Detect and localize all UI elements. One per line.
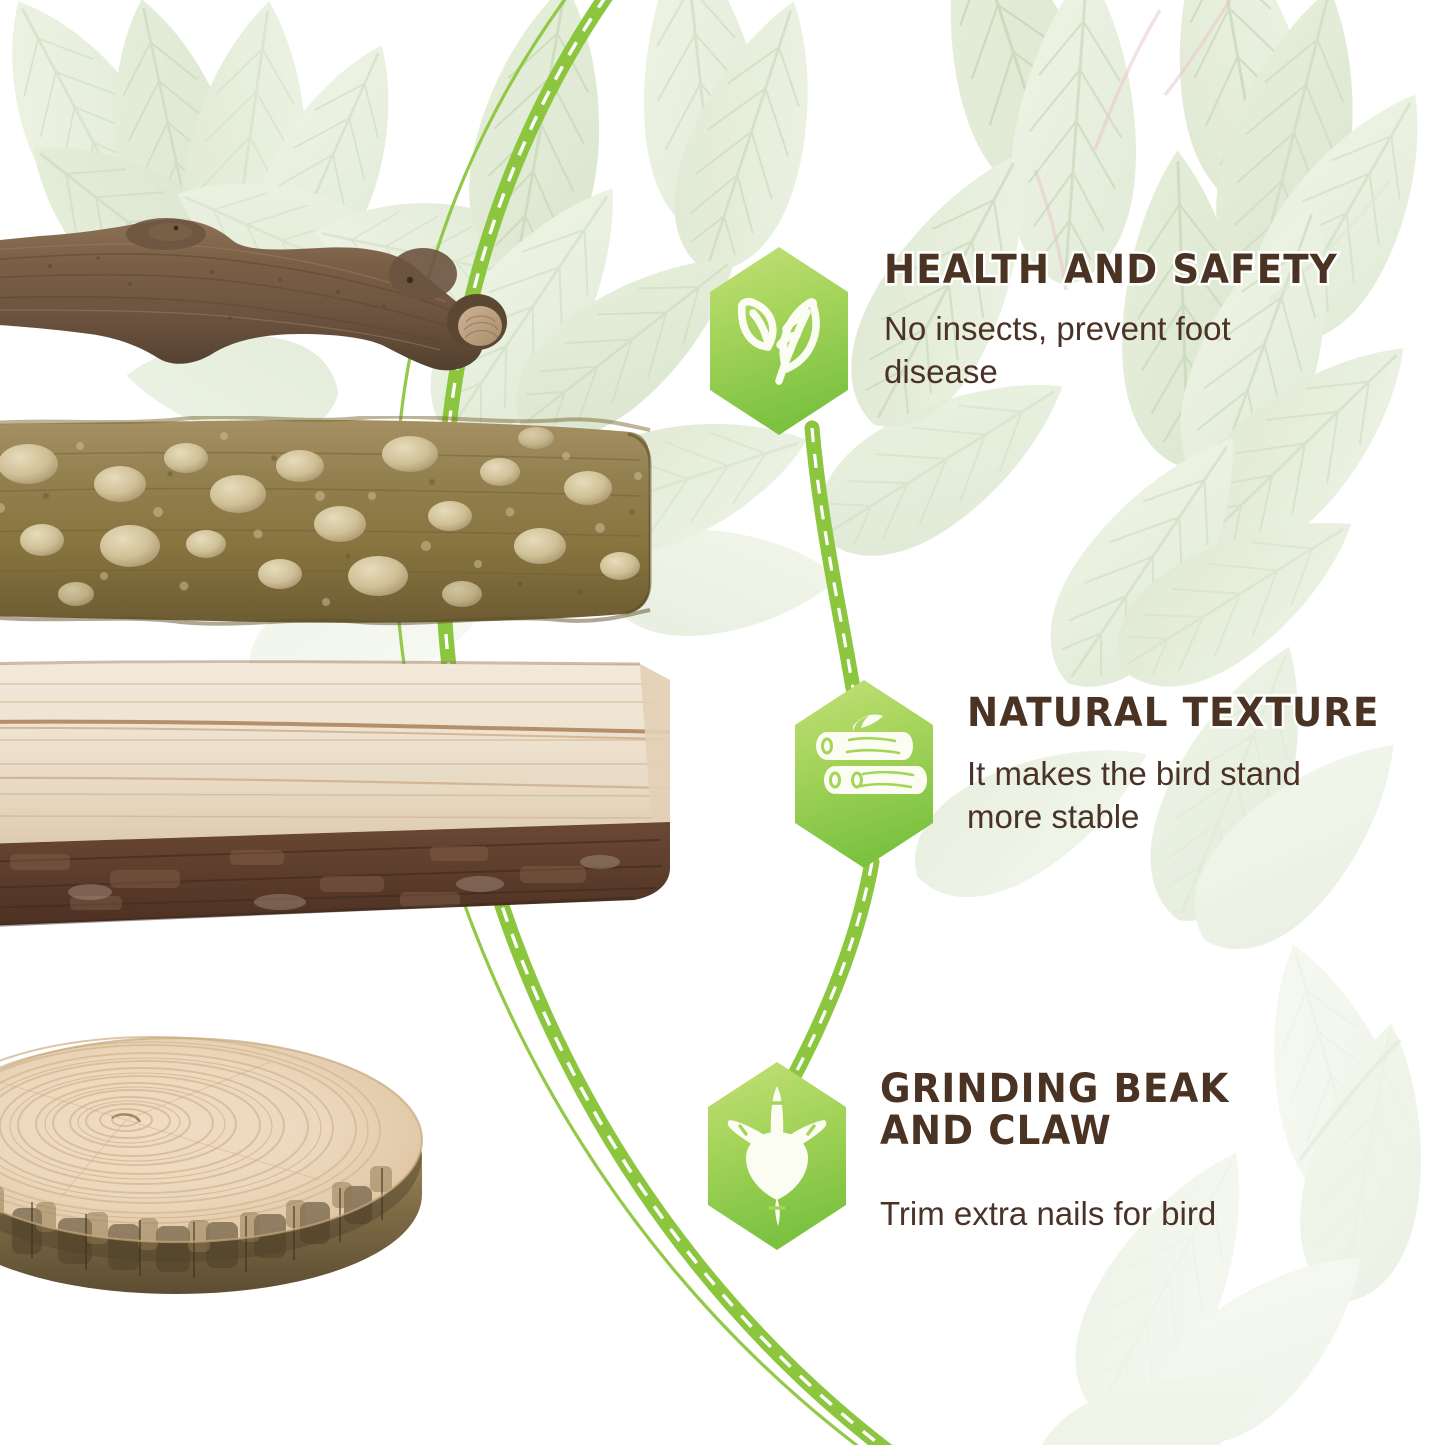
feature-grinding-beak-and-claw[interactable]: GRINDING BEAK AND CLAW Trim extra nails … (704, 1058, 1256, 1254)
bird-claw-icon (704, 1058, 850, 1254)
feature-text: HEALTH AND SAFETY No insects, prevent fo… (884, 249, 1372, 394)
feature-description: Trim extra nails for bird (880, 1193, 1256, 1236)
feature-icon-badge (704, 1058, 850, 1254)
feature-title: NATURAL TEXTURE (967, 692, 1380, 734)
infographic-canvas: HEALTH AND SAFETY No insects, prevent fo… (0, 0, 1445, 1445)
feature-health-and-safety[interactable]: HEALTH AND SAFETY No insects, prevent fo… (706, 243, 1372, 439)
leaves-icon (706, 243, 852, 439)
feature-title: HEALTH AND SAFETY (884, 249, 1338, 291)
feature-icon-badge (706, 243, 852, 439)
feature-description: No insects, prevent foot disease (884, 308, 1372, 394)
feature-description: It makes the bird stand more stable (967, 753, 1411, 839)
feature-list: HEALTH AND SAFETY No insects, prevent fo… (0, 0, 1445, 1445)
stacked-logs-icon (791, 676, 937, 872)
feature-text: GRINDING BEAK AND CLAW Trim extra nails … (880, 1068, 1256, 1236)
feature-text: NATURAL TEXTURE It makes the bird stand … (967, 692, 1411, 839)
feature-title: GRINDING BEAK AND CLAW (880, 1068, 1229, 1153)
feature-natural-texture[interactable]: NATURAL TEXTURE It makes the bird stand … (791, 676, 1411, 872)
feature-icon-badge (791, 676, 937, 872)
